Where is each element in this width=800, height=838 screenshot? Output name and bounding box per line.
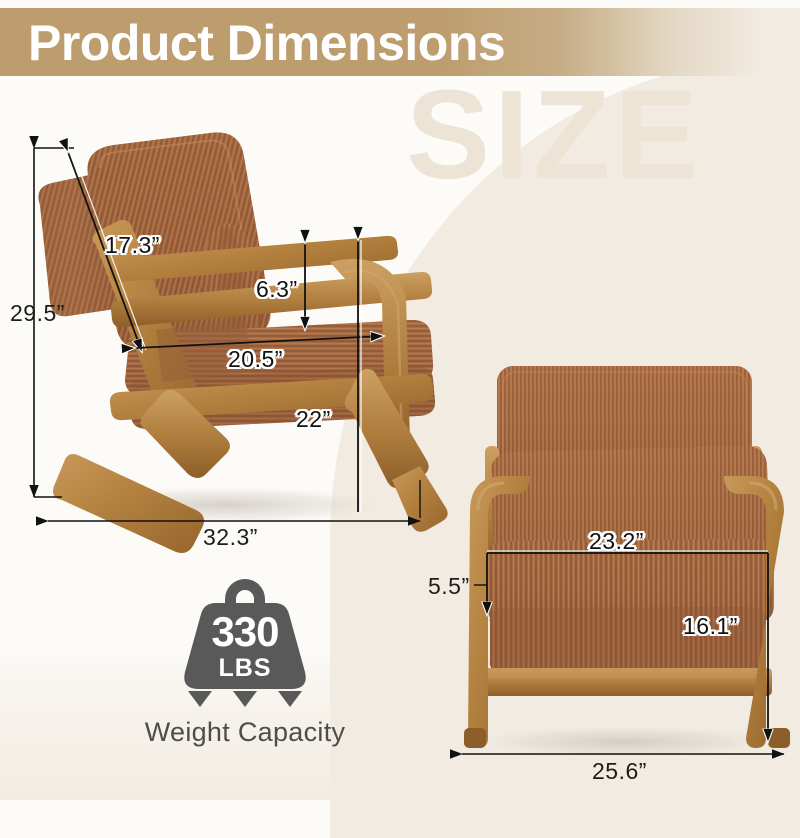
dim-label-seat-width: 23.2” [589,528,644,555]
dim-label-seat-height: 16.1” [683,613,738,640]
dim-label-overall-height: 29.5” [10,300,65,327]
weight-capacity-block: 330 LBS Weight Capacity [120,565,370,750]
infographic-canvas: SIZE Product Dimensions [0,0,800,800]
weight-capacity-caption: Weight Capacity [120,717,370,748]
dim-label-backrest-height: 17.3” [105,232,160,259]
dim-label-overall-depth: 32.3” [203,524,258,551]
dim-label-cushion-thickness: 5.5” [428,573,470,600]
dim-label-armrest-height: 22” [296,406,331,433]
dim-label-overall-width: 25.6” [592,758,647,785]
dim-label-seat-depth: 20.5” [228,346,283,373]
weight-capacity-unit: LBS [120,655,370,681]
page-title: Product Dimensions [28,14,505,72]
dim-label-armrest-above-seat: 6.3” [256,276,298,303]
size-watermark-text: SIZE [406,72,702,198]
weight-capacity-number: 330 [120,611,370,653]
